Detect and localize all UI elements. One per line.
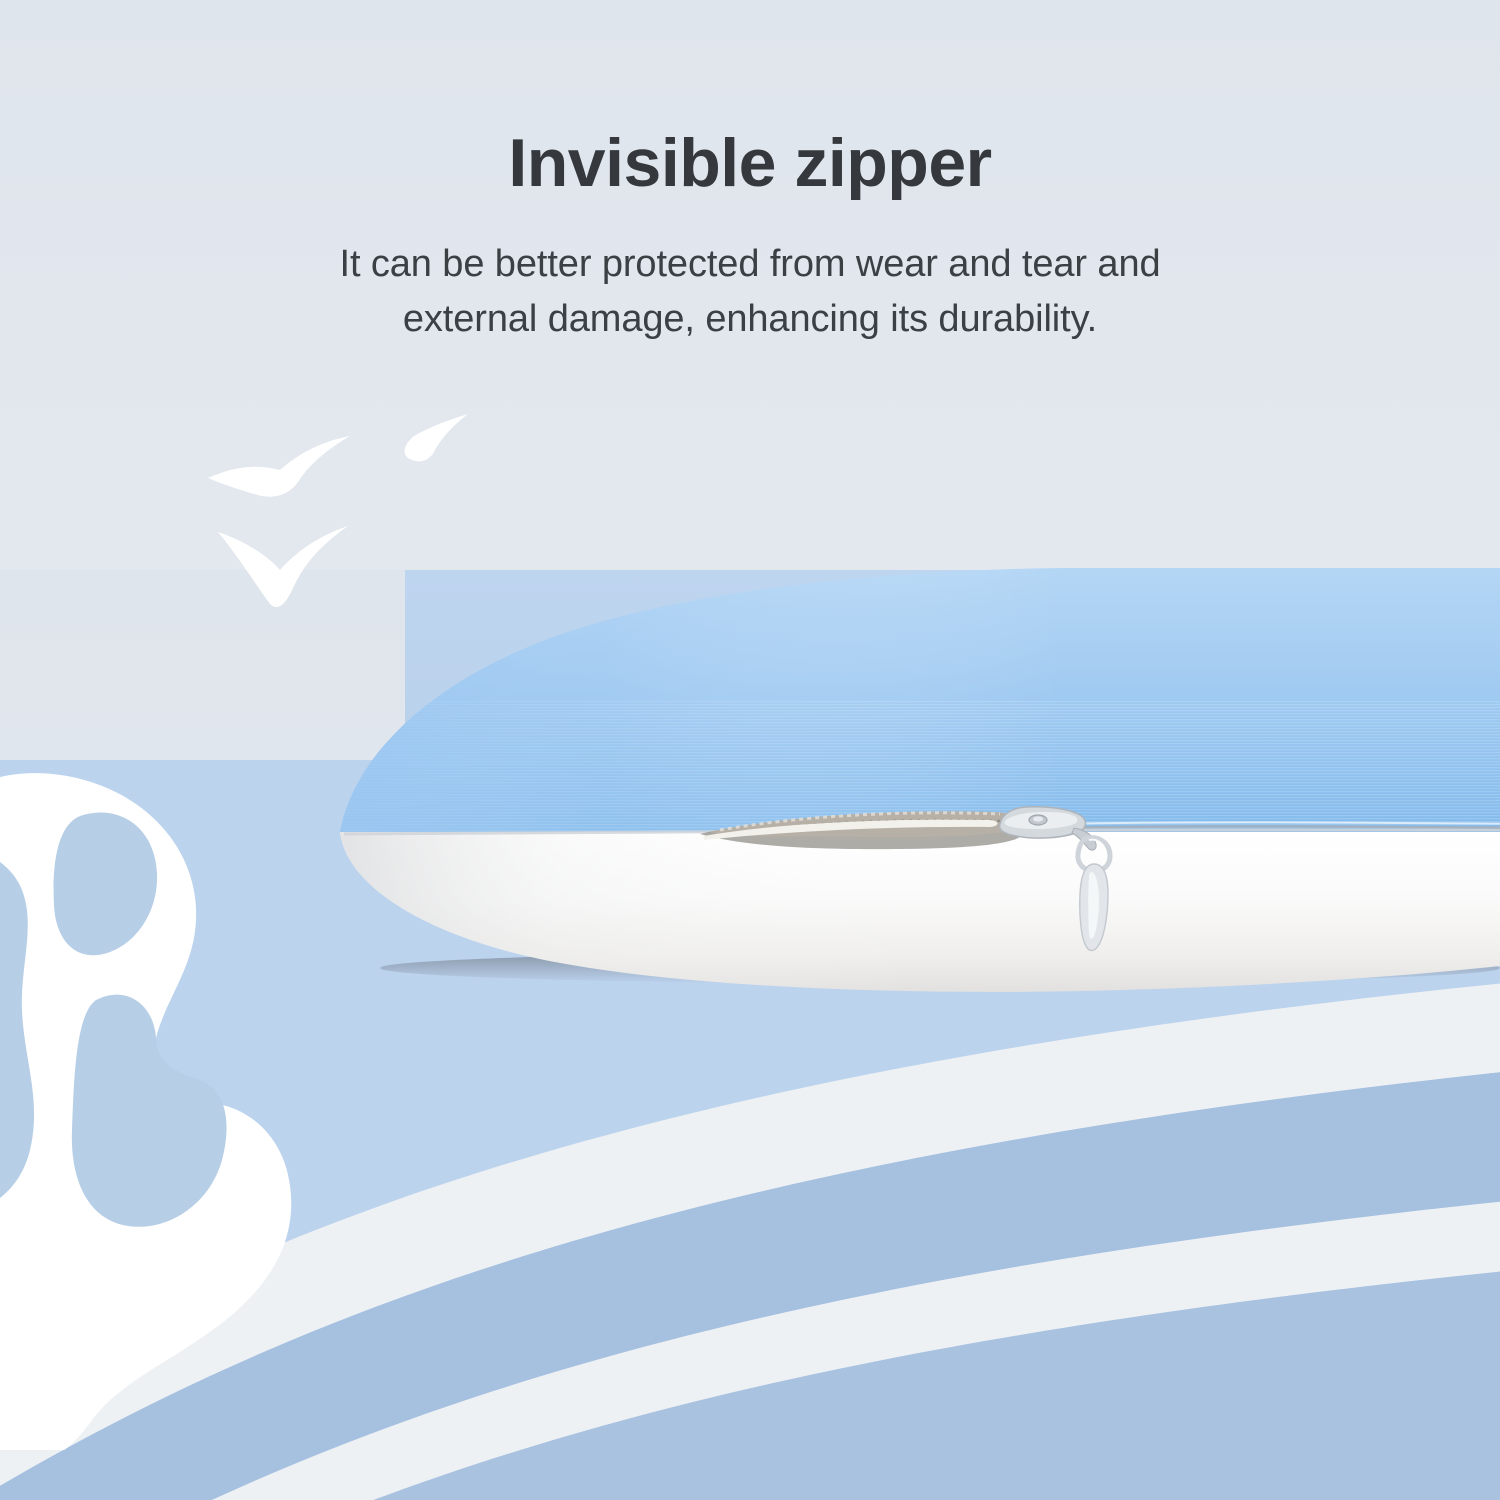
product-pillow — [300, 560, 1500, 1030]
product-feature-banner: Invisible zipper It can be better protec… — [0, 0, 1500, 1500]
cloud-hole-lower — [72, 995, 227, 1227]
pillow-blue-cover-shading — [340, 568, 1500, 832]
page-subtitle: It can be better protected from wear and… — [0, 199, 1500, 347]
page-subtitle-line-2: external damage, enhancing its durabilit… — [0, 292, 1500, 347]
page-title: Invisible zipper — [0, 128, 1500, 199]
bird-silhouette-2-icon — [405, 414, 468, 461]
page-subtitle-line-1: It can be better protected from wear and… — [0, 237, 1500, 292]
text-block: Invisible zipper It can be better protec… — [0, 128, 1500, 348]
bird-silhouette-1-icon — [208, 436, 350, 497]
